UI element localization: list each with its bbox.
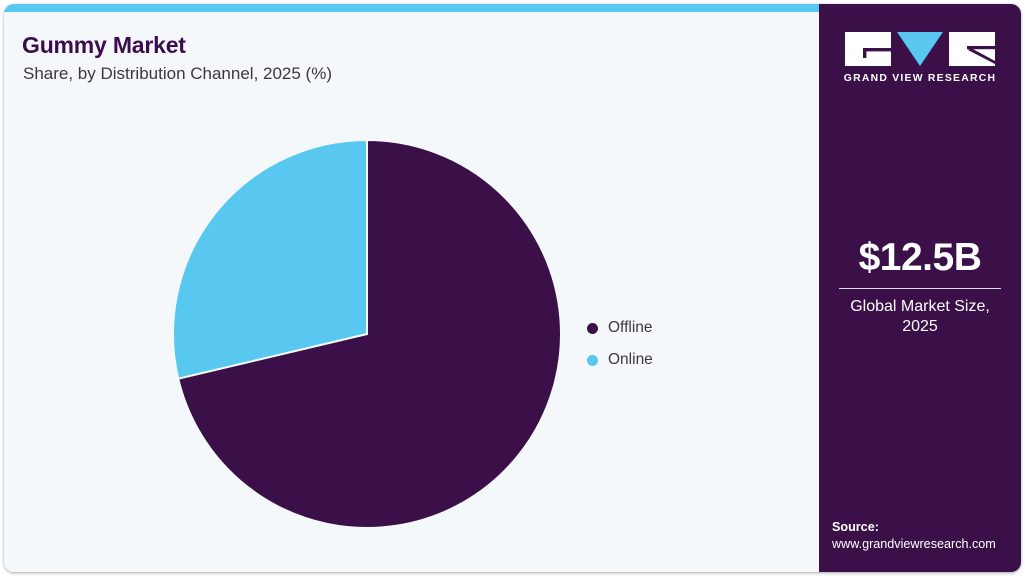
stat-block: $12.5B Global Market Size, 2025 [833, 238, 1007, 338]
source-url[interactable]: www.grandviewresearch.com [832, 536, 1013, 554]
circle-icon [587, 355, 598, 366]
stat-caption: Global Market Size, 2025 [833, 297, 1007, 338]
pie-chart [169, 136, 565, 532]
legend-item-label: Offline [608, 320, 653, 336]
source-label: Source: [832, 519, 1013, 537]
stat-value: $12.5B [833, 238, 1007, 279]
gvr-logo-icon [845, 32, 995, 66]
stat-divider [839, 288, 1001, 289]
page-subtitle: Share, by Distribution Channel, 2025 (%) [23, 64, 332, 84]
brand-sidebar: GRAND VIEW RESEARCH $12.5B Global Market… [819, 4, 1021, 572]
chart-panel: Gummy Market Share, by Distribution Chan… [4, 12, 819, 572]
legend-item-online[interactable]: Online [587, 344, 767, 376]
brand-logo: GRAND VIEW RESEARCH [819, 32, 1021, 84]
accent-bar [4, 4, 819, 12]
pie-chart-svg [169, 136, 565, 532]
legend-item-offline[interactable]: Offline [587, 312, 767, 344]
chart-legend: Offline Online [587, 312, 767, 376]
brand-wordmark: GRAND VIEW RESEARCH [844, 73, 997, 84]
circle-icon [587, 323, 598, 334]
page-title: Gummy Market [22, 32, 186, 59]
source-block: Source: www.grandviewresearch.com [832, 519, 1013, 554]
legend-item-label: Online [608, 352, 653, 368]
chart-card: Gummy Market Share, by Distribution Chan… [4, 4, 1021, 572]
